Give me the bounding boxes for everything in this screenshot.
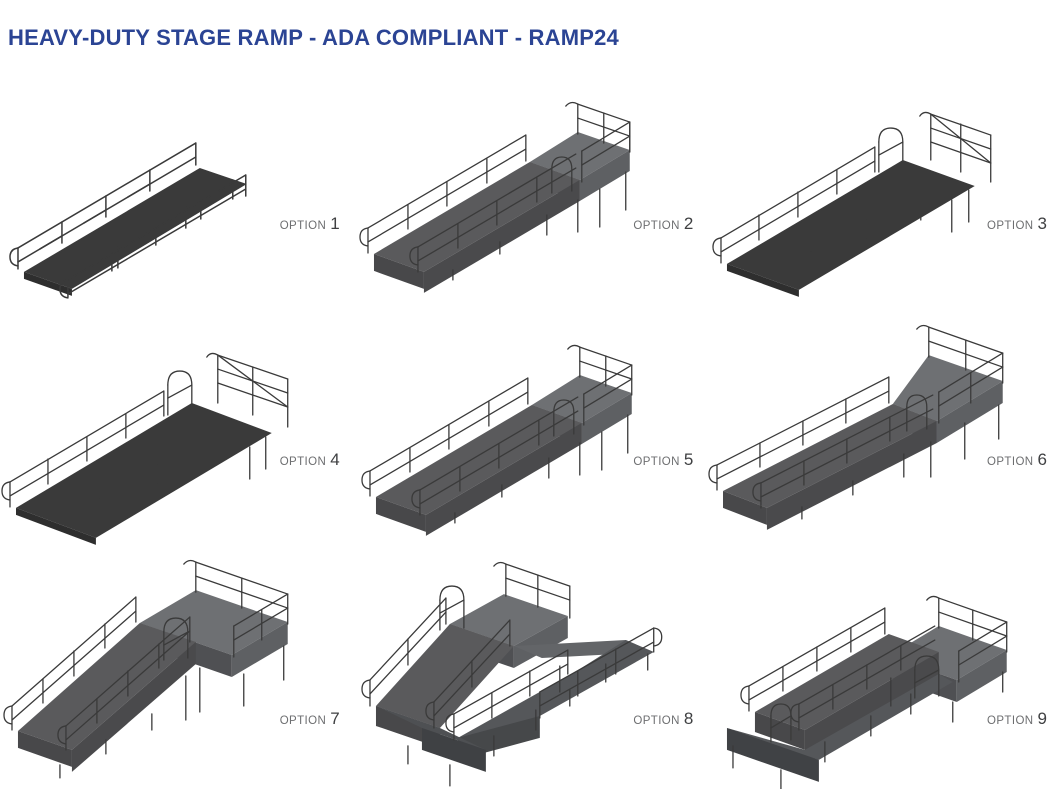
option-word-1: OPTION bbox=[280, 220, 327, 232]
option-label-1: OPTION1 bbox=[280, 215, 340, 233]
option-number-5: 5 bbox=[684, 450, 693, 469]
option-cell-7[interactable]: OPTION7 bbox=[0, 550, 354, 789]
option-cell-8[interactable]: OPTION8 bbox=[354, 550, 708, 789]
option-number-1: 1 bbox=[330, 214, 339, 233]
ramp-illustration-4 bbox=[0, 311, 354, 550]
option-number-3: 3 bbox=[1038, 214, 1047, 233]
ramp-illustration-1 bbox=[0, 72, 354, 311]
option-word-8: OPTION bbox=[633, 715, 680, 727]
option-number-6: 6 bbox=[1038, 450, 1047, 469]
option-word-4: OPTION bbox=[280, 456, 327, 468]
option-word-6: OPTION bbox=[987, 456, 1034, 468]
option-number-4: 4 bbox=[330, 450, 339, 469]
option-word-7: OPTION bbox=[280, 715, 327, 727]
option-number-9: 9 bbox=[1038, 709, 1047, 728]
option-label-2: OPTION2 bbox=[633, 215, 693, 233]
option-label-9: OPTION9 bbox=[987, 710, 1047, 728]
ramp-illustration-7 bbox=[0, 550, 354, 789]
page-title: HEAVY-DUTY STAGE RAMP - ADA COMPLIANT - … bbox=[8, 25, 619, 51]
ramp-options-grid: OPTION1 bbox=[0, 72, 1061, 789]
option-word-5: OPTION bbox=[633, 456, 680, 468]
option-label-6: OPTION6 bbox=[987, 451, 1047, 469]
option-number-7: 7 bbox=[330, 709, 339, 728]
option-cell-2[interactable]: OPTION2 bbox=[354, 72, 708, 311]
option-cell-1[interactable]: OPTION1 bbox=[0, 72, 354, 311]
option-label-5: OPTION5 bbox=[633, 451, 693, 469]
option-label-7: OPTION7 bbox=[280, 710, 340, 728]
option-label-3: OPTION3 bbox=[987, 215, 1047, 233]
ramp-illustration-3 bbox=[707, 72, 1061, 311]
ramp-illustration-5 bbox=[354, 311, 708, 550]
ramp-illustration-9 bbox=[707, 550, 1061, 789]
option-cell-4[interactable]: OPTION4 bbox=[0, 311, 354, 550]
option-number-8: 8 bbox=[684, 709, 693, 728]
option-cell-3[interactable]: OPTION3 bbox=[707, 72, 1061, 311]
option-cell-6[interactable]: OPTION6 bbox=[707, 311, 1061, 550]
option-label-4: OPTION4 bbox=[280, 451, 340, 469]
option-number-2: 2 bbox=[684, 214, 693, 233]
option-label-8: OPTION8 bbox=[633, 710, 693, 728]
option-word-3: OPTION bbox=[987, 220, 1034, 232]
option-cell-5[interactable]: OPTION5 bbox=[354, 311, 708, 550]
option-word-2: OPTION bbox=[633, 220, 680, 232]
catalog-page: HEAVY-DUTY STAGE RAMP - ADA COMPLIANT - … bbox=[0, 0, 1061, 789]
option-cell-9[interactable]: OPTION9 bbox=[707, 550, 1061, 789]
ramp-illustration-8 bbox=[354, 550, 708, 789]
option-word-9: OPTION bbox=[987, 715, 1034, 727]
ramp-illustration-6 bbox=[707, 311, 1061, 550]
ramp-illustration-2 bbox=[354, 72, 708, 311]
